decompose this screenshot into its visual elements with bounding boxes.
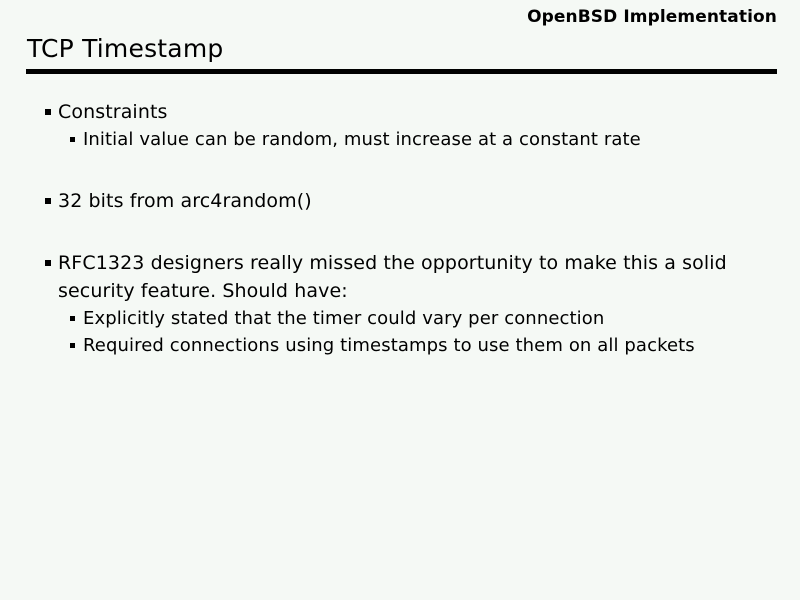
- page-title: TCP Timestamp: [27, 34, 223, 64]
- slide-header: OpenBSD Implementation TCP Timestamp: [27, 6, 777, 70]
- presentation-section-label: OpenBSD Implementation: [27, 6, 777, 28]
- square-bullet-icon: [45, 260, 51, 266]
- bullet-list-level2: Explicitly stated that the timer could v…: [0, 305, 800, 359]
- list-item-label: Initial value can be random, must increa…: [83, 126, 773, 153]
- bullet-list-level2: Initial value can be random, must increa…: [0, 126, 800, 153]
- slide-content: Constraints Initial value can be random,…: [0, 98, 800, 600]
- square-bullet-icon: [70, 316, 75, 321]
- list-item-label: Required connections using timestamps to…: [83, 332, 773, 359]
- title-divider: [26, 69, 777, 74]
- list-item-label: Constraints: [58, 98, 748, 126]
- list-item: Constraints: [0, 98, 800, 126]
- list-item-label: RFC1323 designers really missed the oppo…: [58, 249, 748, 305]
- bullet-list-level1: 32 bits from arc4random(): [0, 187, 800, 215]
- list-item: 32 bits from arc4random(): [0, 187, 800, 215]
- square-bullet-icon: [70, 343, 75, 348]
- square-bullet-icon: [70, 137, 75, 142]
- bullet-list-level1: RFC1323 designers really missed the oppo…: [0, 249, 800, 305]
- square-bullet-icon: [45, 109, 51, 115]
- square-bullet-icon: [45, 198, 51, 204]
- list-item-label: 32 bits from arc4random(): [58, 187, 748, 215]
- list-item: RFC1323 designers really missed the oppo…: [0, 249, 800, 305]
- bullet-block: Constraints Initial value can be random,…: [0, 98, 800, 153]
- list-item: Required connections using timestamps to…: [0, 332, 800, 359]
- slide: OpenBSD Implementation TCP Timestamp Con…: [0, 0, 800, 600]
- bullet-list-level1: Constraints: [0, 98, 800, 126]
- bullet-block: RFC1323 designers really missed the oppo…: [0, 249, 800, 359]
- list-item: Explicitly stated that the timer could v…: [0, 305, 800, 332]
- bullet-block: 32 bits from arc4random(): [0, 187, 800, 215]
- list-item: Initial value can be random, must increa…: [0, 126, 800, 153]
- list-item-label: Explicitly stated that the timer could v…: [83, 305, 773, 332]
